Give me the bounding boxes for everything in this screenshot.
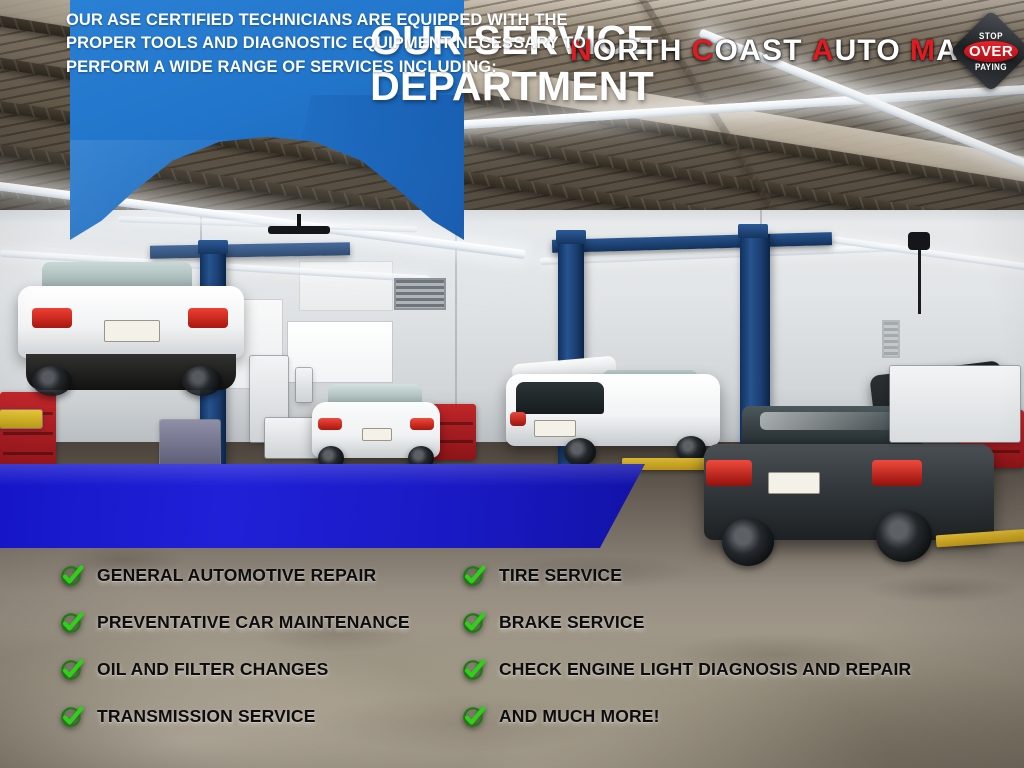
service-department-poster: OUR SERVICE DEPARTMENT NORTHCOASTAUTOMAL… [0,0,1024,768]
brand-wordmark: NORTHCOASTAUTOMALL [570,34,1007,68]
service-label: TIRE SERVICE [499,565,622,586]
check-icon [462,611,486,635]
banner-line-1: OUR ASE CERTIFIED TECHNICIANS ARE EQUIPP… [66,9,606,32]
services-column-left: GENERAL AUTOMOTIVE REPAIR PREVENTATIVE C… [60,552,470,740]
badge-text-bottom: PAYING [965,62,1017,72]
brand-word-coast: COAST [692,34,803,68]
service-item: TIRE SERVICE [462,552,1022,599]
service-label: AND MUCH MORE! [499,706,660,727]
stop-over-paying-badge-icon: STOP OVER PAYING [962,22,1020,80]
service-item: BRAKE SERVICE [462,599,1022,646]
check-icon [60,564,84,588]
check-icon [462,705,486,729]
service-item: GENERAL AUTOMOTIVE REPAIR [60,552,470,599]
badge-text-top: STOP [965,31,1017,41]
service-item: AND MUCH MORE! [462,693,1022,740]
service-label: CHECK ENGINE LIGHT DIAGNOSIS AND REPAIR [499,659,911,680]
banner-line-2: PROPER TOOLS AND DIAGNOSTIC EQUIPMENT NE… [66,32,606,55]
check-icon [60,611,84,635]
banner-line-3: PERFORM A WIDE RANGE OF SERVICES INCLUDI… [66,56,606,79]
service-label: GENERAL AUTOMOTIVE REPAIR [97,565,376,586]
check-icon [462,564,486,588]
brand-logo[interactable]: NORTHCOASTAUTOMALL STOP OVER PAYING [570,28,1010,74]
services-column-right: TIRE SERVICE BRAKE SERVICE CHECK ENGINE … [462,552,1022,740]
certification-banner [0,464,645,548]
service-label: PREVENTATIVE CAR MAINTENANCE [97,612,410,633]
banner-gloss [0,464,645,486]
service-item: TRANSMISSION SERVICE [60,693,470,740]
service-item: CHECK ENGINE LIGHT DIAGNOSIS AND REPAIR [462,646,1022,693]
check-icon [60,705,84,729]
service-label: TRANSMISSION SERVICE [97,706,316,727]
check-icon [60,658,84,682]
badge-text-middle: OVER [962,43,1020,60]
services-checklist: GENERAL AUTOMOTIVE REPAIR PREVENTATIVE C… [0,552,1024,752]
service-item: OIL AND FILTER CHANGES [60,646,470,693]
service-item: PREVENTATIVE CAR MAINTENANCE [60,599,470,646]
service-label: BRAKE SERVICE [499,612,645,633]
brand-word-auto: AUTO [812,34,901,68]
service-label: OIL AND FILTER CHANGES [97,659,328,680]
check-icon [462,658,486,682]
certification-banner-text: OUR ASE CERTIFIED TECHNICIANS ARE EQUIPP… [66,9,606,79]
